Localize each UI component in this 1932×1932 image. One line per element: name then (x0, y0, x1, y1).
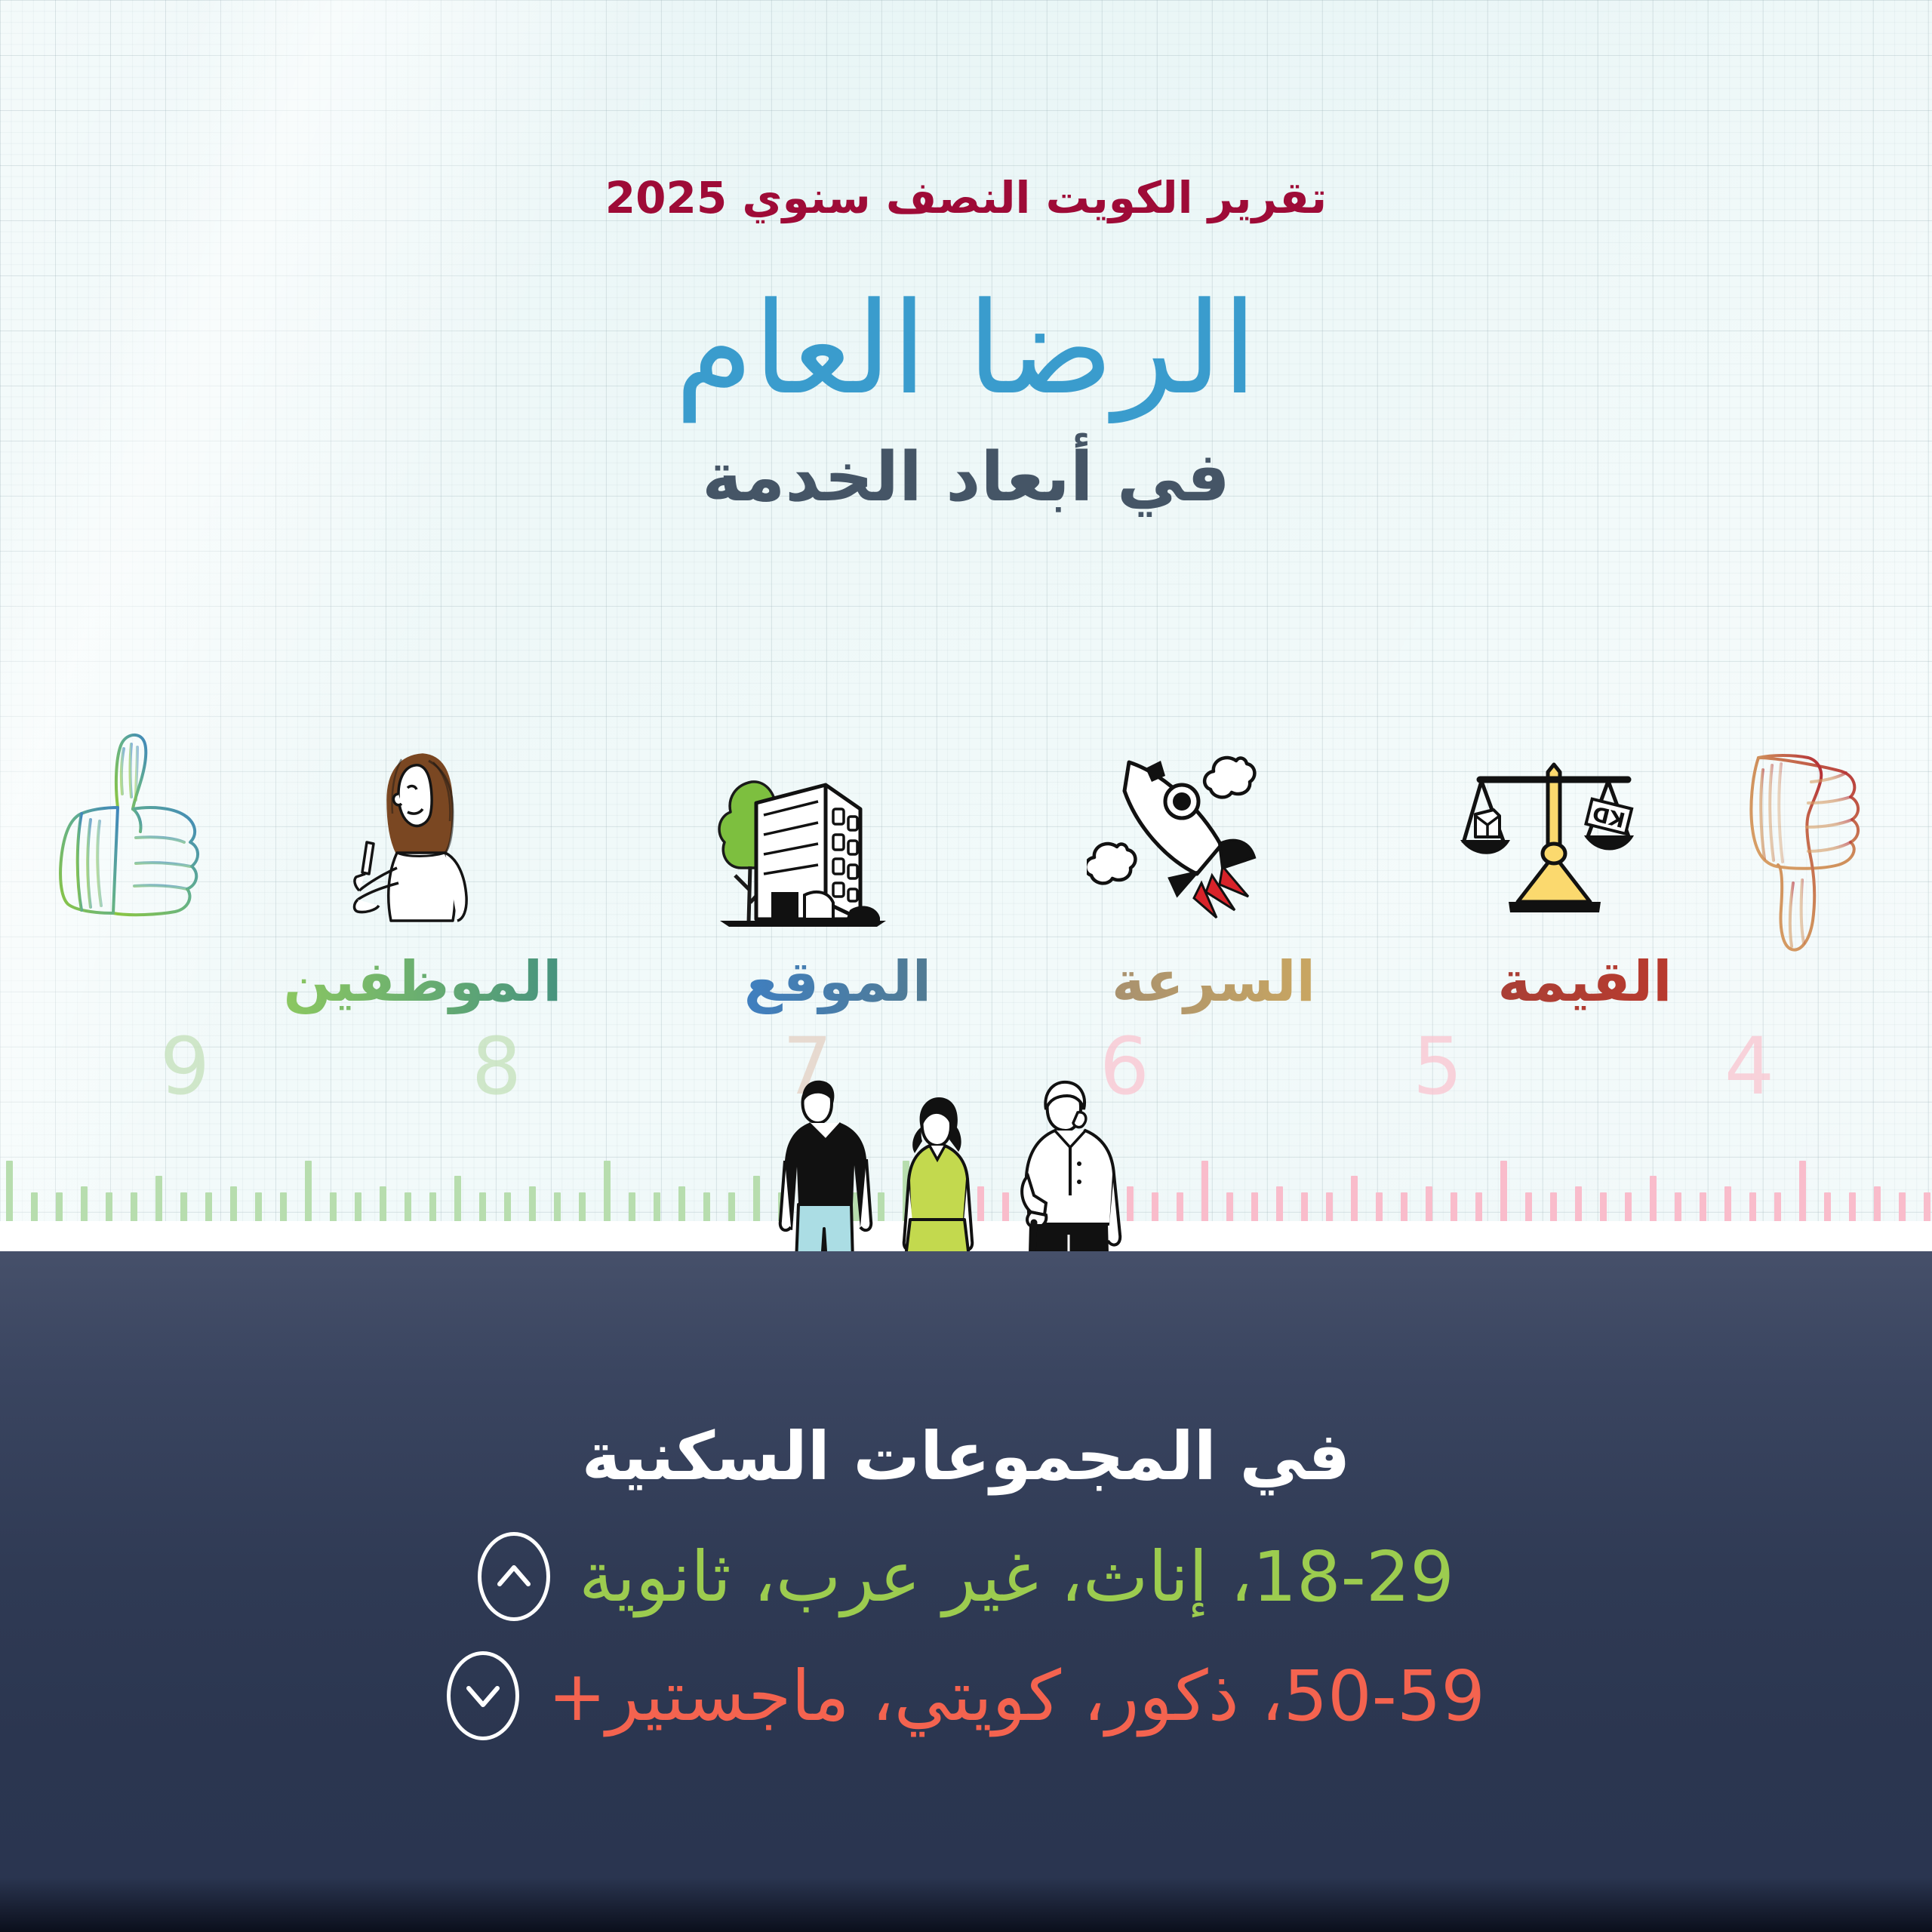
ruler-tick (1899, 1192, 1906, 1223)
ruler-tick (1226, 1192, 1233, 1223)
stat-text-lowest: 50-59، ذكور، كويتي، ماجستير+ (548, 1656, 1485, 1737)
page-title: الرضا العام (0, 279, 1932, 419)
ruler-tick (405, 1192, 411, 1223)
ruler-number-4: 4 (1724, 1020, 1774, 1112)
ruler-tick (1600, 1192, 1607, 1223)
ruler-tick (205, 1192, 212, 1223)
ruler-number-9: 9 (160, 1020, 210, 1112)
thumbs-up-icon (45, 724, 241, 943)
ruler-tick (504, 1192, 511, 1223)
dimension-label-value: القيمة (1497, 949, 1672, 1014)
rocket-icon (1087, 747, 1283, 936)
ruler-tick (1575, 1186, 1582, 1223)
ruler-tick (106, 1192, 112, 1223)
ruler-tick (155, 1176, 162, 1223)
ruler-tick (1849, 1192, 1856, 1223)
page-subtitle: في أبعاد الخدمة (0, 438, 1932, 517)
ruler-tick (6, 1161, 13, 1223)
ruler-tick (1874, 1186, 1881, 1223)
dimension-label-speed: السرعة (1112, 949, 1315, 1014)
stat-row-highest: 18-29، إناث، غير عرب، ثانوية (0, 1532, 1932, 1621)
building-with-tree-icon (702, 762, 906, 951)
ruler-tick (1177, 1192, 1183, 1223)
ruler-tick (180, 1192, 187, 1223)
ruler-tick (654, 1192, 660, 1223)
dimension-label-location: الموقع (744, 949, 931, 1014)
ruler-tick (1251, 1192, 1258, 1223)
ruler-tick (56, 1192, 63, 1223)
ruler-tick (629, 1192, 635, 1223)
ruler-tick (1824, 1192, 1831, 1223)
ruler-tick (131, 1192, 137, 1223)
ruler-number-5: 5 (1413, 1020, 1463, 1112)
ruler-tick (479, 1192, 486, 1223)
dimension-label-employees: الموظفين (284, 949, 562, 1014)
ruler-tick (678, 1186, 685, 1223)
ruler-tick (604, 1161, 611, 1223)
ruler-tick (1749, 1192, 1756, 1223)
ruler-tick (330, 1192, 337, 1223)
ruler-tick (554, 1192, 561, 1223)
ruler-tick (1301, 1192, 1308, 1223)
ruler-tick (1326, 1192, 1333, 1223)
ruler-tick (1774, 1192, 1781, 1223)
ruler-tick (1650, 1176, 1657, 1223)
ruler-tick (255, 1192, 262, 1223)
ruler-tick (1724, 1186, 1731, 1223)
ruler-tick (280, 1192, 287, 1223)
ruler-tick (305, 1161, 312, 1223)
ruler-tick (1500, 1161, 1507, 1223)
ruler-tick (728, 1192, 735, 1223)
stat-text-highest: 18-29، إناث، غير عرب، ثانوية (579, 1537, 1454, 1617)
ruler-tick (355, 1192, 361, 1223)
stat-row-lowest: 50-59، ذكور، كويتي، ماجستير+ (0, 1651, 1932, 1740)
infographic-poster: تقرير الكويت النصف سنوي 2025 الرضا العام… (0, 0, 1932, 1932)
ruler-tick (579, 1192, 586, 1223)
ruler-tick (1675, 1192, 1681, 1223)
ruler-tick (1426, 1186, 1432, 1223)
ruler-tick (1475, 1192, 1482, 1223)
ruler-tick (230, 1186, 237, 1223)
bottom-section-title: في المجموعات السكنية (0, 1417, 1932, 1495)
ruler-tick (1550, 1192, 1557, 1223)
ruler-tick (753, 1176, 760, 1223)
chevron-down-circle-icon (447, 1651, 519, 1740)
ruler-tick (429, 1192, 436, 1223)
ruler-tick (31, 1192, 38, 1223)
ruler-tick (1351, 1176, 1358, 1223)
ruler-tick (703, 1192, 710, 1223)
ruler-tick (1276, 1186, 1283, 1223)
ruler-tick (1376, 1192, 1383, 1223)
ruler-tick (1451, 1192, 1457, 1223)
ruler-tick (380, 1186, 386, 1223)
ruler-tick (1525, 1192, 1532, 1223)
woman-with-phone-icon (332, 740, 506, 936)
ruler-tick (1401, 1192, 1407, 1223)
ruler-tick (1799, 1161, 1806, 1223)
ruler-tick (1700, 1192, 1706, 1223)
ruler-tick (1201, 1161, 1208, 1223)
ruler-number-8: 8 (472, 1020, 521, 1112)
balance-scale-icon: KD (1460, 758, 1649, 924)
dimension-icon-row: KD (0, 724, 1932, 951)
ruler-tick (1924, 1192, 1930, 1223)
chevron-up-circle-icon (478, 1532, 550, 1621)
ruler-tick (81, 1186, 88, 1223)
ruler-tick (454, 1176, 461, 1223)
thumbs-down-icon (1736, 732, 1909, 966)
ruler-tick (529, 1186, 536, 1223)
report-kicker: تقرير الكويت النصف سنوي 2025 (0, 172, 1932, 223)
ruler-tick (1625, 1192, 1632, 1223)
